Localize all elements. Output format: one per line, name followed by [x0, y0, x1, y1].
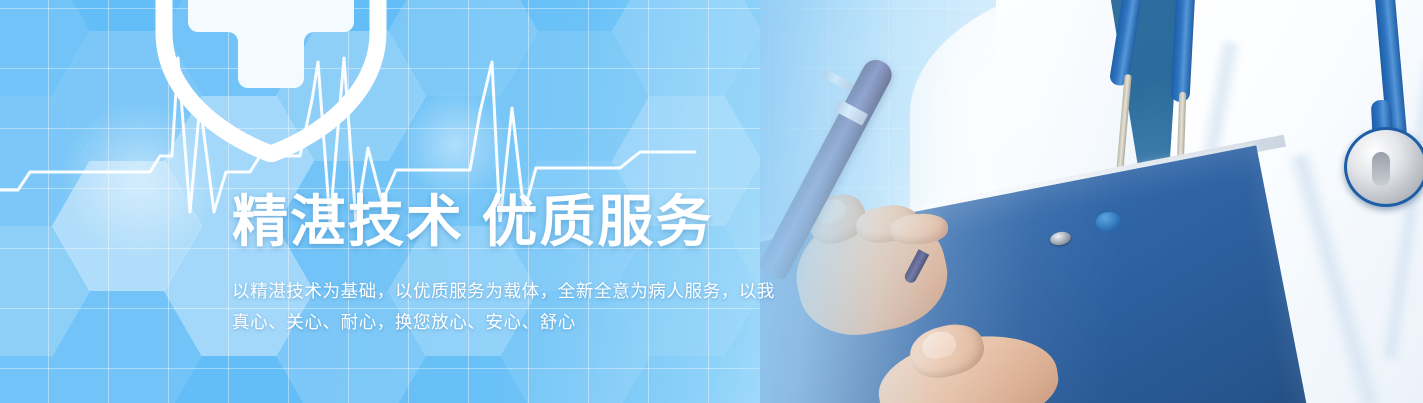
subtitle-block: 以精湛技术为基础，以优质服务为载体，全新全意为病人服务，以我 真心、关心、耐心，…	[232, 276, 792, 338]
medical-hero-banner: 精湛技术 优质服务 以精湛技术为基础，以优质服务为载体，全新全意为病人服务，以我…	[0, 0, 1423, 403]
page-title: 精湛技术 优质服务	[232, 192, 792, 252]
doctor-photograph	[760, 0, 1423, 403]
photo-blend-haze	[760, 0, 1423, 403]
medical-cross-icon	[188, 0, 354, 88]
subtitle-line-2: 真心、关心、耐心，换您放心、安心、舒心	[232, 307, 792, 338]
subtitle-line-1: 以精湛技术为基础，以优质服务为载体，全新全意为病人服务，以我	[232, 276, 792, 307]
shield-emblem	[148, 0, 394, 162]
banner-text-block: 精湛技术 优质服务 以精湛技术为基础，以优质服务为载体，全新全意为病人服务，以我…	[232, 192, 792, 338]
